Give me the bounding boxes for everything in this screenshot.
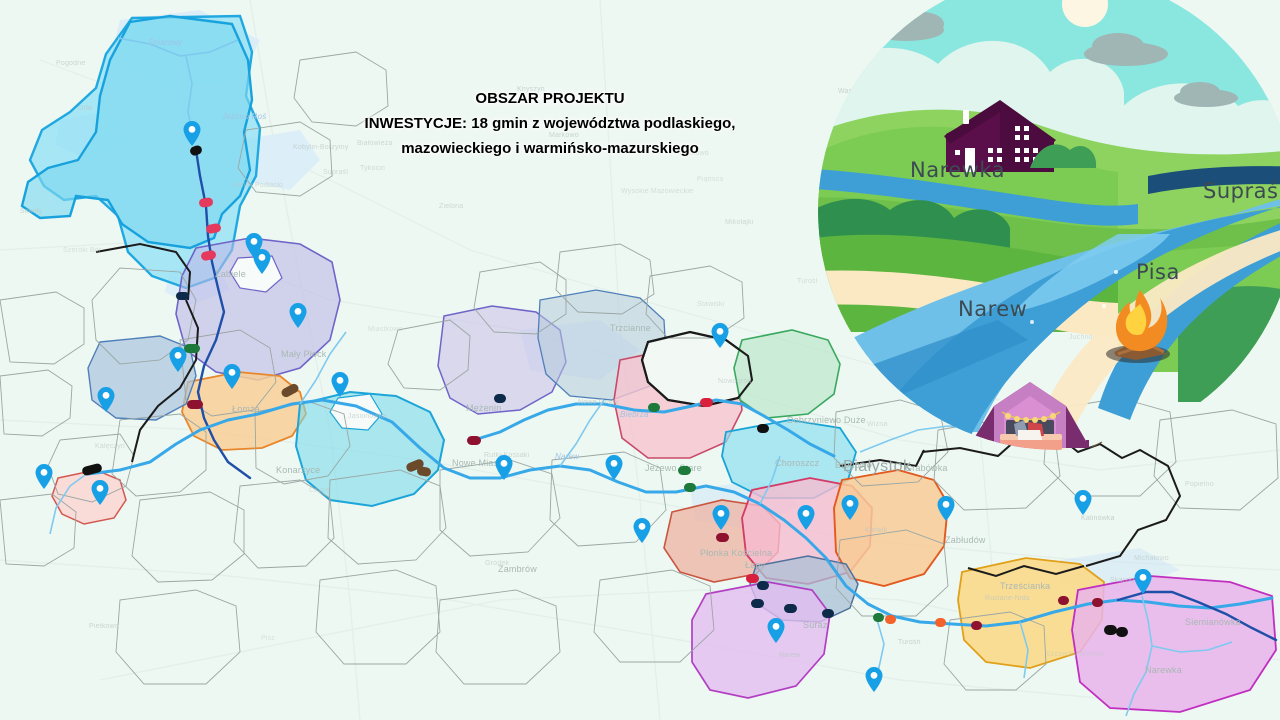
map-pin-icon[interactable] (797, 505, 815, 530)
investment-marker[interactable] (81, 462, 103, 476)
map-pin-icon[interactable] (35, 464, 53, 489)
investment-marker[interactable] (467, 436, 481, 445)
title-line-3: mazowieckiego i warmińsko-mazurskiego (300, 136, 800, 161)
investment-marker[interactable] (757, 581, 769, 590)
investment-marker[interactable] (1092, 598, 1103, 607)
investment-marker[interactable] (198, 197, 213, 208)
investment-marker[interactable] (1116, 627, 1128, 637)
investment-marker[interactable] (648, 403, 660, 412)
investment-marker[interactable] (784, 604, 797, 613)
investment-marker[interactable] (971, 621, 982, 630)
map-pin-icon[interactable] (91, 480, 109, 505)
investment-marker[interactable] (751, 599, 764, 608)
illustration-river-label: Pisa (1136, 260, 1180, 284)
map-pin-icon[interactable] (97, 387, 115, 412)
investment-marker[interactable] (678, 466, 691, 475)
title-line-1: OBSZAR PROJEKTU (300, 86, 800, 111)
map-pin-icon[interactable] (841, 495, 859, 520)
map-pin-icon[interactable] (865, 667, 883, 692)
investment-marker[interactable] (757, 424, 769, 433)
investment-marker[interactable] (822, 609, 834, 618)
map-pin-icon[interactable] (711, 323, 729, 348)
illustration-river-label: Narewka (910, 158, 1005, 182)
map-pin-icon[interactable] (289, 303, 307, 328)
map-poster: .gb{fill:none;stroke:#9aa7a4;stroke-widt… (0, 0, 1280, 720)
map-pin-icon[interactable] (253, 249, 271, 274)
investment-marker[interactable] (416, 465, 431, 476)
investment-marker[interactable] (746, 574, 759, 583)
map-pin-icon[interactable] (1134, 569, 1152, 594)
investment-marker[interactable] (1058, 596, 1069, 605)
map-pin-icon[interactable] (223, 364, 241, 389)
illustration-river-label: Supraśl (1203, 179, 1280, 203)
title-line-2: INWESTYCJE: 18 gmin z województwa podlas… (300, 111, 800, 136)
investment-marker[interactable] (885, 615, 896, 624)
investment-marker[interactable] (205, 222, 221, 233)
investment-marker[interactable] (684, 483, 696, 492)
illustration-river-label: Narew (958, 297, 1027, 321)
map-pin-icon[interactable] (712, 505, 730, 530)
investment-marker[interactable] (176, 292, 189, 300)
map-pin-icon[interactable] (495, 455, 513, 480)
investment-marker[interactable] (873, 613, 884, 622)
investment-marker[interactable] (494, 394, 506, 403)
investment-marker[interactable] (280, 382, 300, 398)
investment-marker[interactable] (700, 398, 713, 407)
map-pin-icon[interactable] (1074, 490, 1092, 515)
investment-marker[interactable] (200, 249, 217, 261)
investment-marker[interactable] (716, 533, 729, 542)
investment-marker[interactable] (1104, 625, 1117, 635)
map-pin-icon[interactable] (183, 121, 201, 146)
map-pin-icon[interactable] (633, 518, 651, 543)
map-pin-icon[interactable] (937, 496, 955, 521)
map-pin-icon[interactable] (767, 618, 785, 643)
page-title: OBSZAR PROJEKTU INWESTYCJE: 18 gmin z wo… (300, 86, 800, 161)
map-pin-icon[interactable] (605, 455, 623, 480)
map-pin-icon[interactable] (169, 347, 187, 372)
investment-marker[interactable] (187, 400, 203, 409)
investment-marker[interactable] (935, 618, 946, 627)
map-pin-icon[interactable] (331, 372, 349, 397)
